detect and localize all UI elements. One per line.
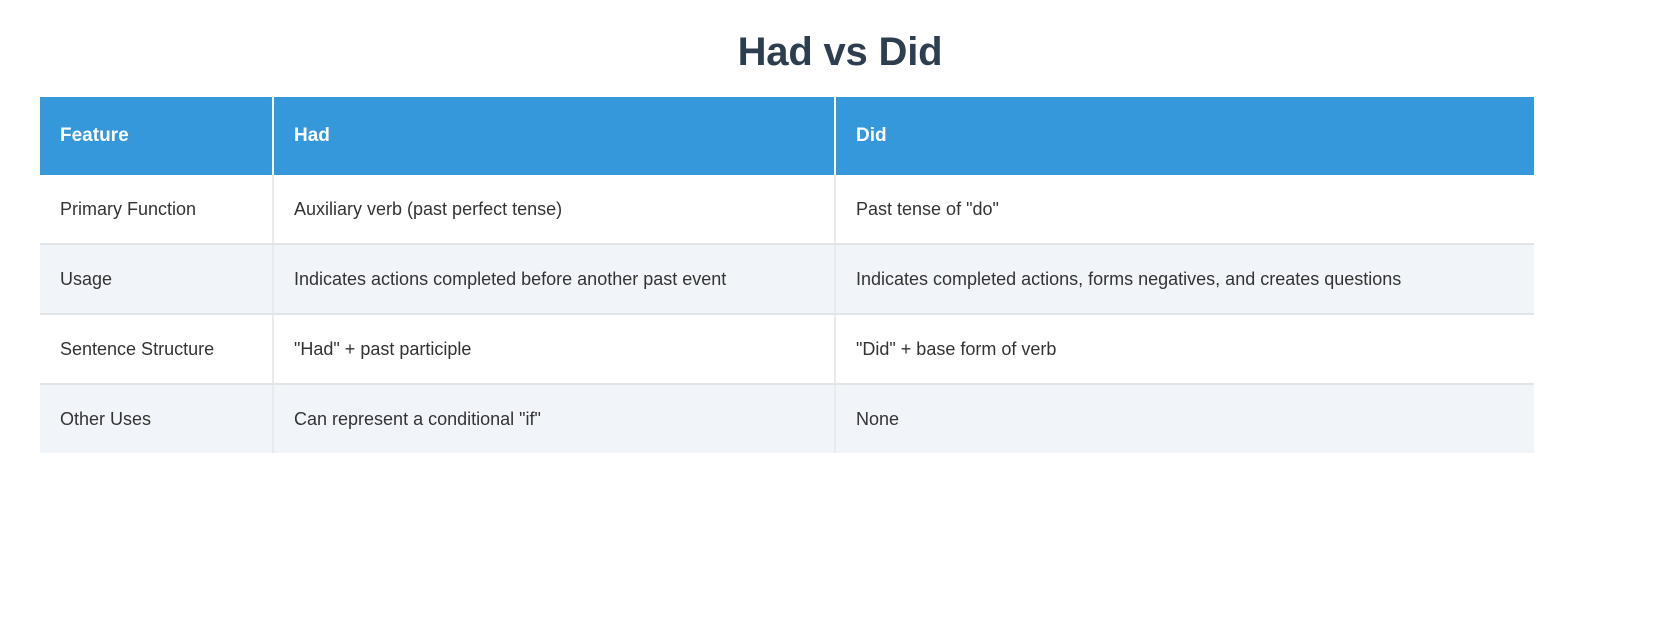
- table-body: Primary Function Auxiliary verb (past pe…: [40, 175, 1534, 453]
- cell-did: Indicates completed actions, forms negat…: [835, 244, 1534, 314]
- page-title: Had vs Did: [0, 0, 1680, 76]
- table-row: Usage Indicates actions completed before…: [40, 244, 1534, 314]
- column-header-had: Had: [273, 97, 835, 175]
- cell-had: Auxiliary verb (past perfect tense): [273, 175, 835, 244]
- comparison-page: Had vs Did Feature Had Did Primary Funct…: [0, 0, 1680, 620]
- comparison-table-container: Feature Had Did Primary Function Auxilia…: [40, 97, 1534, 453]
- table-row: Sentence Structure "Had" + past particip…: [40, 314, 1534, 384]
- cell-had: Indicates actions completed before anoth…: [273, 244, 835, 314]
- column-header-did: Did: [835, 97, 1534, 175]
- cell-did: Past tense of "do": [835, 175, 1534, 244]
- cell-feature: Sentence Structure: [40, 314, 273, 384]
- column-header-feature: Feature: [40, 97, 273, 175]
- cell-had: "Had" + past participle: [273, 314, 835, 384]
- table-header-row: Feature Had Did: [40, 97, 1534, 175]
- table-row: Other Uses Can represent a conditional "…: [40, 384, 1534, 453]
- cell-feature: Primary Function: [40, 175, 273, 244]
- cell-feature: Usage: [40, 244, 273, 314]
- cell-had: Can represent a conditional "if": [273, 384, 835, 453]
- table-header: Feature Had Did: [40, 97, 1534, 175]
- table-row: Primary Function Auxiliary verb (past pe…: [40, 175, 1534, 244]
- cell-did: "Did" + base form of verb: [835, 314, 1534, 384]
- cell-did: None: [835, 384, 1534, 453]
- had-vs-did-comparison-table: Feature Had Did Primary Function Auxilia…: [40, 97, 1534, 453]
- cell-feature: Other Uses: [40, 384, 273, 453]
